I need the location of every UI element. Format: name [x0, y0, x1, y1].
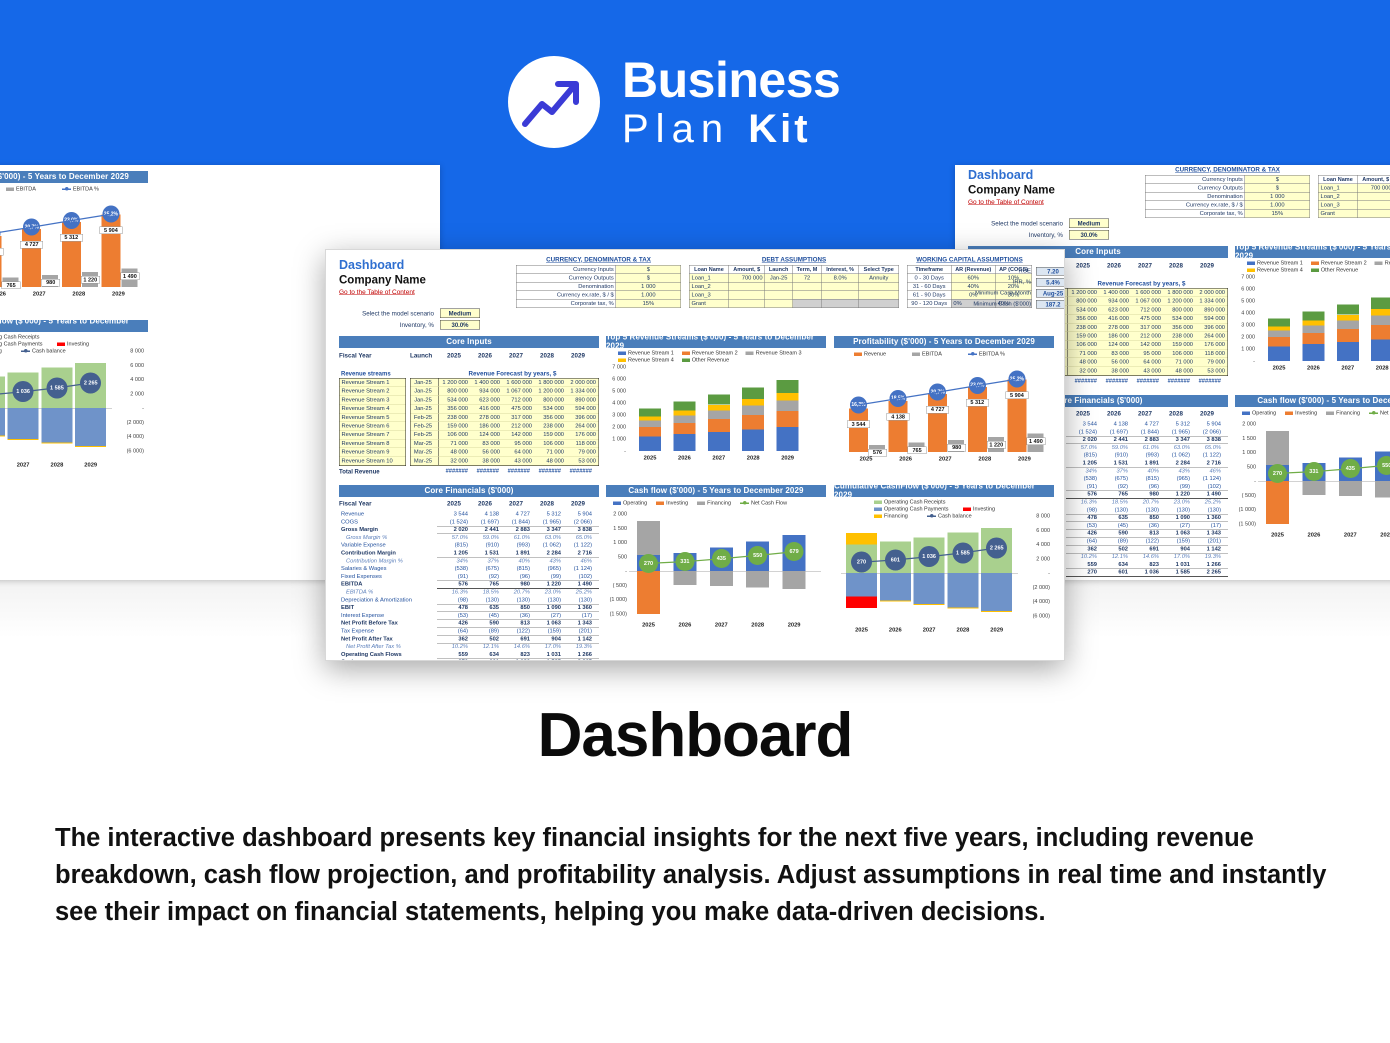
cf-row-value: (1 122): [561, 542, 592, 548]
debt-header-cell: Interest, %: [822, 265, 859, 274]
net-cashflow-bubble: 435: [1341, 459, 1360, 478]
cf-row-value: 1 142: [561, 636, 592, 642]
payments-bar: [8, 408, 39, 439]
top5-bar-segment: [673, 434, 695, 451]
forecast-cell[interactable]: 186 000: [471, 422, 503, 430]
core-financials-band: Core Financials ($'000): [339, 485, 599, 497]
currency-row-value[interactable]: $: [616, 265, 681, 274]
forecast-cell[interactable]: 396 000: [1196, 323, 1228, 331]
cf-row-label: Depreciation & Amortization: [341, 597, 412, 603]
top5-bar-segment: [777, 393, 799, 400]
debt-cell[interactable]: [859, 291, 899, 300]
currency-row-value[interactable]: 1 000: [616, 282, 681, 291]
debt-cell[interactable]: [1358, 201, 1390, 210]
cf-row-value: (36): [499, 612, 530, 618]
cf-row-value: 3 544: [437, 511, 468, 517]
forecast-cell[interactable]: 2 000 000: [567, 379, 599, 387]
cf-row-value: 5 904: [561, 511, 592, 517]
cf-row-value: 601: [468, 659, 499, 661]
forecast-cell[interactable]: 475 000: [1132, 315, 1164, 323]
legend-item: EBITDA %: [968, 351, 1005, 357]
legend-swatch: [912, 352, 920, 356]
forecast-cell[interactable]: 934 000: [471, 387, 503, 395]
currency-row: Currency Inputs$: [1145, 175, 1310, 184]
forecast-cell[interactable]: 1 400 000: [471, 379, 503, 387]
top5-bar-segment: [708, 394, 730, 404]
cf-row-value: 502: [468, 636, 499, 642]
top5-bar-segment: [742, 399, 764, 405]
legend-label: Financing: [884, 513, 908, 519]
cf-row-label: Salaries & Wages: [341, 566, 386, 572]
cf-row-value: (99): [530, 573, 561, 579]
launch-cell[interactable]: Mar-25: [411, 457, 439, 465]
cf-row-value: 601: [1097, 569, 1128, 575]
forecast-cell[interactable]: 356 000: [439, 405, 471, 413]
forecast-cell[interactable]: 43 000: [1132, 367, 1164, 375]
revenue-bar: [62, 222, 81, 287]
debt-cell[interactable]: Jan-25: [765, 274, 793, 283]
financing-bar: [981, 611, 1012, 612]
forecast-cell[interactable]: 56 000: [1100, 358, 1132, 366]
legend-swatch: [1285, 411, 1293, 415]
net-cashflow-bubble: 550: [1377, 456, 1390, 475]
top5-bar-segment: [742, 405, 764, 415]
legend-label: Financing: [1336, 410, 1360, 416]
revenue-forecast-title: Revenue Forecast by years, $: [1055, 280, 1228, 287]
forecast-cell[interactable]: 2 000 000: [1196, 289, 1228, 297]
legend-swatch: [874, 500, 882, 504]
currency-row-value[interactable]: $: [1245, 175, 1310, 184]
cf-row-value: (102): [1190, 483, 1221, 489]
growth-arrow-icon: [508, 56, 600, 148]
forecast-cell[interactable]: 1 334 000: [567, 387, 599, 395]
revenue-forecast-row: Jan-25800 000934 0001 067 0001 200 0001 …: [411, 387, 599, 396]
forecast-cell[interactable]: 124 000: [1100, 341, 1132, 349]
currency-row-value[interactable]: 1.000: [1245, 201, 1310, 210]
forecast-cell[interactable]: 1 800 000: [535, 379, 567, 387]
table-of-content-link[interactable]: Go to the Table of Content: [968, 198, 1044, 206]
debt-cell[interactable]: [1358, 209, 1390, 218]
inventory-label: Inventory, %: [339, 322, 434, 329]
legend-item: EBITDA: [6, 186, 36, 192]
financing-bar: [746, 571, 769, 587]
debt-cell[interactable]: Loan_2: [689, 282, 728, 291]
forecast-cell[interactable]: 278 000: [471, 413, 503, 421]
brand-name-line2: Plan: [622, 107, 730, 151]
revenue-stream-name[interactable]: Revenue Stream 10: [340, 457, 406, 466]
forecast-cell[interactable]: 106 000: [1068, 341, 1100, 349]
debt-row: Loan_1700 000Jan-25728.0%Annuity: [689, 274, 899, 283]
scenario-select[interactable]: Medium: [1069, 219, 1109, 229]
forecast-cell[interactable]: 534 000: [1164, 315, 1196, 323]
launch-cell[interactable]: Feb-25: [411, 422, 439, 430]
forecast-cell[interactable]: 32 000: [439, 457, 471, 465]
legend-swatch: [1311, 261, 1319, 265]
forecast-cell[interactable]: 106 000: [439, 431, 471, 439]
top5-bar-segment: [673, 411, 695, 416]
top5-bar-segment: [742, 387, 764, 399]
currency-row-value[interactable]: $: [1245, 184, 1310, 193]
forecast-cell[interactable]: 1 800 000: [1164, 289, 1196, 297]
cf-row-value: 1 205: [437, 550, 468, 556]
cf-row-value: (91): [1066, 483, 1097, 489]
forecast-cell[interactable]: 159 000: [1068, 332, 1100, 340]
cf-row-value: 1 031: [530, 651, 561, 657]
forecast-cell[interactable]: 264 000: [567, 422, 599, 430]
forecast-cell[interactable]: 594 000: [1196, 315, 1228, 323]
forecast-cell[interactable]: 1 200 000: [1164, 297, 1196, 305]
debt-row: Grant: [1318, 209, 1390, 218]
y-axis-tick: 4 000: [1233, 310, 1255, 316]
forecast-cell[interactable]: 1 067 000: [1132, 297, 1164, 305]
top5-bar-segment: [639, 437, 661, 451]
debt-cell[interactable]: Loan_3: [689, 291, 728, 300]
currency-row-value[interactable]: 15%: [616, 299, 681, 308]
cf-row-value: (815): [1128, 476, 1159, 482]
forecast-cell[interactable]: 800 000: [535, 396, 567, 404]
forecast-cell[interactable]: 890 000: [567, 396, 599, 404]
kpi-value: 7.20: [1036, 267, 1065, 276]
forecast-cell[interactable]: 71 000: [1164, 358, 1196, 366]
cf-row-value: 16.3%: [437, 589, 468, 595]
revenue-forecast-row: Jan-25800 000934 0001 067 0001 200 0001 …: [1040, 297, 1228, 306]
cf-row-value: 1 036: [1128, 569, 1159, 575]
forecast-cell[interactable]: 594 000: [567, 405, 599, 413]
forecast-cell[interactable]: 1 200 000: [439, 379, 471, 387]
debt-cell[interactable]: [793, 299, 822, 308]
forecast-cell[interactable]: 1 600 000: [1132, 289, 1164, 297]
kpi-label: ROE: [941, 268, 1031, 274]
debt-cell[interactable]: [765, 282, 793, 291]
forecast-cell[interactable]: 71 000: [439, 439, 471, 447]
forecast-cell[interactable]: 712 000: [503, 396, 535, 404]
forecast-cell[interactable]: 1 067 000: [503, 387, 535, 395]
forecast-cell[interactable]: 1 334 000: [1196, 297, 1228, 305]
forecast-cell[interactable]: 356 000: [535, 413, 567, 421]
top5-bar-segment: [708, 410, 730, 419]
forecast-cell[interactable]: 64 000: [503, 448, 535, 456]
scenario-select[interactable]: Medium: [440, 309, 480, 319]
forecast-cell[interactable]: 176 000: [1196, 341, 1228, 349]
debt-cell[interactable]: [729, 299, 765, 308]
forecast-cell[interactable]: 623 000: [1100, 306, 1132, 314]
forecast-cell[interactable]: 71 000: [535, 448, 567, 456]
forecast-cell[interactable]: 238 000: [1068, 323, 1100, 331]
forecast-cell[interactable]: 800 000: [1068, 297, 1100, 305]
debt-cell[interactable]: Annuity: [859, 274, 899, 283]
forecast-cell[interactable]: 534 000: [535, 405, 567, 413]
forecast-cell[interactable]: 712 000: [1132, 306, 1164, 314]
forecast-cell[interactable]: 238 000: [439, 413, 471, 421]
launch-cell[interactable]: Jan-25: [411, 379, 439, 387]
debt-cell[interactable]: 8.0%: [822, 274, 859, 283]
debt-cell[interactable]: [793, 282, 822, 291]
forecast-cell[interactable]: 32 000: [1068, 367, 1100, 375]
revenue-stream-name[interactable]: Revenue Stream 4: [340, 405, 406, 414]
forecast-cell[interactable]: 48 000: [1164, 367, 1196, 375]
currency-row-value[interactable]: 1 000: [1245, 192, 1310, 201]
cf-row-value: (1 697): [468, 519, 499, 525]
inventory-input[interactable]: 30.0%: [1069, 230, 1109, 240]
forecast-cell[interactable]: 534 000: [1068, 306, 1100, 314]
forecast-cell[interactable]: 53 000: [1196, 367, 1228, 375]
cf-year: 2025: [439, 500, 469, 507]
currency-row: Corporate tax, %15%: [1145, 209, 1310, 218]
launch-cell[interactable]: Jan-25: [411, 387, 439, 395]
debt-cell[interactable]: [1358, 192, 1390, 201]
forecast-cell[interactable]: 38 000: [471, 457, 503, 465]
forecast-cell[interactable]: 416 000: [471, 405, 503, 413]
cf-row-value: (815): [1066, 452, 1097, 458]
forecast-cell[interactable]: 186 000: [1100, 332, 1132, 340]
debt-cell[interactable]: Loan_1: [689, 274, 728, 283]
top5-bar-segment: [1268, 331, 1290, 337]
forecast-cell[interactable]: 106 000: [535, 439, 567, 447]
forecast-cell[interactable]: 79 000: [1196, 358, 1228, 366]
currency-row-value[interactable]: 15%: [1245, 209, 1310, 218]
forecast-cell[interactable]: 278 000: [1100, 323, 1132, 331]
y-axis-tick: 1 000: [603, 540, 627, 546]
forecast-cell[interactable]: 1 200 000: [1068, 289, 1100, 297]
revenue-stream-name[interactable]: Revenue Stream 7: [340, 431, 406, 440]
launch-cell[interactable]: Feb-25: [411, 431, 439, 439]
debt-cell[interactable]: Grant: [689, 299, 728, 308]
cf-row-value: 576: [437, 581, 468, 587]
forecast-cell[interactable]: 176 000: [567, 431, 599, 439]
financing-bar: [637, 521, 660, 555]
cf-row-value: 4 138: [468, 511, 499, 517]
revenue-forecast-row: Feb-25106 000124 000142 000159 000176 00…: [411, 431, 599, 440]
x-axis-tick: 2027: [925, 456, 965, 462]
legend-swatch: [57, 342, 65, 346]
revenue-stream-name[interactable]: Revenue Stream 2: [340, 387, 406, 396]
revenue-data-label: 4 727: [20, 241, 43, 249]
forecast-cell[interactable]: 212 000: [503, 422, 535, 430]
forecast-cell[interactable]: 83 000: [471, 439, 503, 447]
cash-balance-bubble: 1 585: [952, 542, 973, 563]
screenshot-main-dashboard: DashboardCompany NameGo to the Table of …: [325, 249, 1065, 661]
ebitda-pct-bubble: 25,2%: [1008, 371, 1025, 388]
currency-row-value[interactable]: $: [616, 274, 681, 283]
cf-row-value: (122): [499, 628, 530, 634]
debt-header-cell: Loan Name: [1318, 175, 1357, 184]
revenue-bar: [928, 394, 947, 452]
legend-swatch: [1242, 411, 1250, 415]
debt-cell[interactable]: [859, 299, 899, 308]
debt-cell[interactable]: 700 000: [729, 274, 765, 283]
cf-row-value: 3 838: [1190, 437, 1221, 443]
currency-row-label: Currency Outputs: [516, 274, 616, 283]
launch-cell[interactable]: Mar-25: [411, 448, 439, 456]
dashboard-canvas-main: DashboardCompany NameGo to the Table of …: [326, 250, 1065, 661]
kpi-label: Minimum Cash Month: [941, 290, 1031, 296]
financing-bar: [673, 571, 696, 585]
cf-row-value: 12.1%: [1097, 554, 1128, 560]
legend-item: Financing: [697, 500, 731, 506]
forecast-cell[interactable]: 159 000: [1164, 341, 1196, 349]
cf-row-value: 14.6%: [499, 644, 530, 650]
forecast-cell[interactable]: 159 000: [535, 431, 567, 439]
revenue-stream-name[interactable]: Revenue Stream 5: [340, 413, 406, 422]
cf-row-value: (17): [1190, 522, 1221, 528]
launch-cell[interactable]: Mar-25: [411, 439, 439, 447]
debt-cell[interactable]: [765, 299, 793, 308]
debt-header-cell: Term, M: [793, 265, 822, 274]
forecast-cell[interactable]: 142 000: [503, 431, 535, 439]
cf-fiscal-label: Fiscal Year: [339, 500, 372, 507]
revenue-forecast-row: Jan-25534 000623 000712 000800 000890 00…: [411, 396, 599, 405]
forecast-cell[interactable]: 118 000: [1196, 349, 1228, 357]
launch-cell[interactable]: Jan-25: [411, 405, 439, 413]
forecast-cell[interactable]: 238 000: [535, 422, 567, 430]
forecast-cell[interactable]: 356 000: [1068, 315, 1100, 323]
forecast-cell[interactable]: 623 000: [471, 396, 503, 404]
cf-row-value: 980: [499, 581, 530, 587]
debt-cell[interactable]: [729, 282, 765, 291]
forecast-cell[interactable]: 38 000: [1100, 367, 1132, 375]
x-axis-tick: 2029: [1004, 456, 1044, 462]
cash-balance-bubble: 1 585: [46, 377, 67, 398]
y-axis-tick: 7 000: [1233, 274, 1255, 280]
debt-cell[interactable]: [859, 282, 899, 291]
ebitda-pct-bubble: 25,2%: [102, 206, 119, 223]
debt-row: Loan_3: [1318, 201, 1390, 210]
debt-cell[interactable]: Loan_1: [1318, 184, 1357, 193]
forecast-cell[interactable]: 159 000: [439, 422, 471, 430]
y-axis-tick: (1 000): [603, 597, 627, 603]
legend-swatch-line: [21, 350, 30, 352]
forecast-cell[interactable]: 317 000: [1132, 323, 1164, 331]
forecast-cell[interactable]: 264 000: [1196, 332, 1228, 340]
revenue-stream-name[interactable]: Revenue Stream 3: [340, 396, 406, 405]
forecast-cell[interactable]: 95 000: [1132, 349, 1164, 357]
launch-cell[interactable]: Jan-25: [411, 396, 439, 404]
forecast-cell[interactable]: 48 000: [1068, 358, 1100, 366]
forecast-cell[interactable]: 79 000: [567, 448, 599, 456]
cf-row-value: 1 090: [1159, 515, 1190, 521]
cf-row-value: 16.3%: [1066, 499, 1097, 505]
forecast-cell[interactable]: 48 000: [439, 448, 471, 456]
forecast-cell[interactable]: 106 000: [1164, 349, 1196, 357]
forecast-cell[interactable]: 83 000: [1100, 349, 1132, 357]
forecast-cell[interactable]: 212 000: [1132, 332, 1164, 340]
forecast-cell[interactable]: 53 000: [567, 457, 599, 465]
legend-item: Net Cash Flow: [740, 500, 787, 506]
forecast-cell[interactable]: 56 000: [471, 448, 503, 456]
revenue-data-label: 5 312: [60, 234, 83, 242]
cf-row-label: Revenue: [341, 511, 364, 517]
top5-bar-segment: [708, 405, 730, 411]
legend-label: EBITDA %: [73, 186, 99, 192]
y-axis-tick: 5 000: [1233, 298, 1255, 304]
cf-row-value: (910): [1097, 452, 1128, 458]
legend-item: EBITDA: [912, 351, 942, 357]
debt-cell[interactable]: [793, 291, 822, 300]
legend-item: Other Revenue: [682, 357, 729, 363]
forecast-cell[interactable]: 800 000: [439, 387, 471, 395]
cf-row-label: Net Profit Before Tax: [341, 620, 398, 626]
forecast-cell[interactable]: 95 000: [503, 439, 535, 447]
forecast-cell[interactable]: 124 000: [471, 431, 503, 439]
forecast-cell[interactable]: 475 000: [503, 405, 535, 413]
y-axis-tick: (4 000): [1017, 599, 1050, 605]
forecast-cell[interactable]: 71 000: [1068, 349, 1100, 357]
cf-row-value: 426: [1066, 530, 1097, 536]
debt-cell[interactable]: [822, 282, 859, 291]
currency-row-value[interactable]: 1.000: [616, 291, 681, 300]
forecast-cell[interactable]: 1 400 000: [1100, 289, 1132, 297]
forecast-cell[interactable]: 48 000: [535, 457, 567, 465]
forecast-cell[interactable]: 416 000: [1100, 315, 1132, 323]
cf-row-value: 2 265: [561, 659, 592, 661]
forecast-cell[interactable]: 1 600 000: [503, 379, 535, 387]
cf-row-value: 61.0%: [1128, 444, 1159, 450]
forecast-cell[interactable]: 64 000: [1132, 358, 1164, 366]
debt-cell[interactable]: [822, 291, 859, 300]
revenue-stream-name[interactable]: Revenue Stream 6: [340, 422, 406, 431]
top5-bar-segment: [673, 423, 695, 434]
top5-bar-segment: [1302, 321, 1324, 326]
debt-cell[interactable]: Loan_2: [1318, 192, 1357, 201]
y-axis-tick: 7 000: [604, 364, 626, 370]
cf-row-value: (98): [1066, 507, 1097, 513]
forecast-cell[interactable]: 356 000: [1164, 323, 1196, 331]
debt-cell[interactable]: Grant: [1318, 209, 1357, 218]
debt-cell[interactable]: Loan_3: [1318, 201, 1357, 210]
cf-row-value: (675): [1097, 476, 1128, 482]
forecast-cell[interactable]: 934 000: [1100, 297, 1132, 305]
table-of-content-link[interactable]: Go to the Table of Content: [339, 288, 415, 296]
forecast-cell[interactable]: 317 000: [503, 413, 535, 421]
forecast-cell[interactable]: 1 200 000: [535, 387, 567, 395]
revenue-stream-name[interactable]: Revenue Stream 8: [340, 439, 406, 448]
debt-cell[interactable]: [729, 291, 765, 300]
legend-label: Other Revenue: [692, 357, 729, 363]
debt-cell[interactable]: 72: [793, 274, 822, 283]
forecast-cell[interactable]: 800 000: [1164, 306, 1196, 314]
cf-row-value: 1 490: [561, 581, 592, 587]
cf-row-value: (96): [1128, 483, 1159, 489]
legend-label: Investing: [666, 500, 688, 506]
debt-cell[interactable]: [765, 291, 793, 300]
legend-label: Revenue: [864, 351, 886, 357]
forecast-cell[interactable]: 118 000: [567, 439, 599, 447]
cf-row-value: 1 891: [1128, 460, 1159, 466]
top5-bar-segment: [639, 421, 661, 427]
cf-row-value: 34%: [1066, 468, 1097, 474]
forecast-cell[interactable]: 238 000: [1164, 332, 1196, 340]
cf-row-value: (91): [437, 573, 468, 579]
financing-bar: [41, 442, 72, 443]
y-axis-tick: 6 000: [604, 376, 626, 382]
cf-row-value: 2 284: [530, 550, 561, 556]
forecast-cell[interactable]: 142 000: [1132, 341, 1164, 349]
top5-chart-title: Top 5 Revenue Streams ($'000) - 5 Years …: [606, 336, 826, 348]
forecast-cell[interactable]: 396 000: [567, 413, 599, 421]
launch-cell[interactable]: Feb-25: [411, 413, 439, 421]
revenue-stream-name[interactable]: Revenue Stream 1: [340, 379, 406, 388]
inventory-input[interactable]: 30.0%: [440, 320, 480, 330]
revenue-stream-name[interactable]: Revenue Stream 9: [340, 448, 406, 457]
forecast-cell[interactable]: 890 000: [1196, 306, 1228, 314]
debt-cell[interactable]: 700 000: [1358, 184, 1390, 193]
forecast-cell[interactable]: 43 000: [503, 457, 535, 465]
net-cashflow-bubble: 435: [712, 549, 731, 568]
forecast-cell[interactable]: 534 000: [439, 396, 471, 404]
debt-cell[interactable]: [822, 299, 859, 308]
cf-row-value: (96): [499, 573, 530, 579]
legend-swatch: [6, 187, 14, 191]
